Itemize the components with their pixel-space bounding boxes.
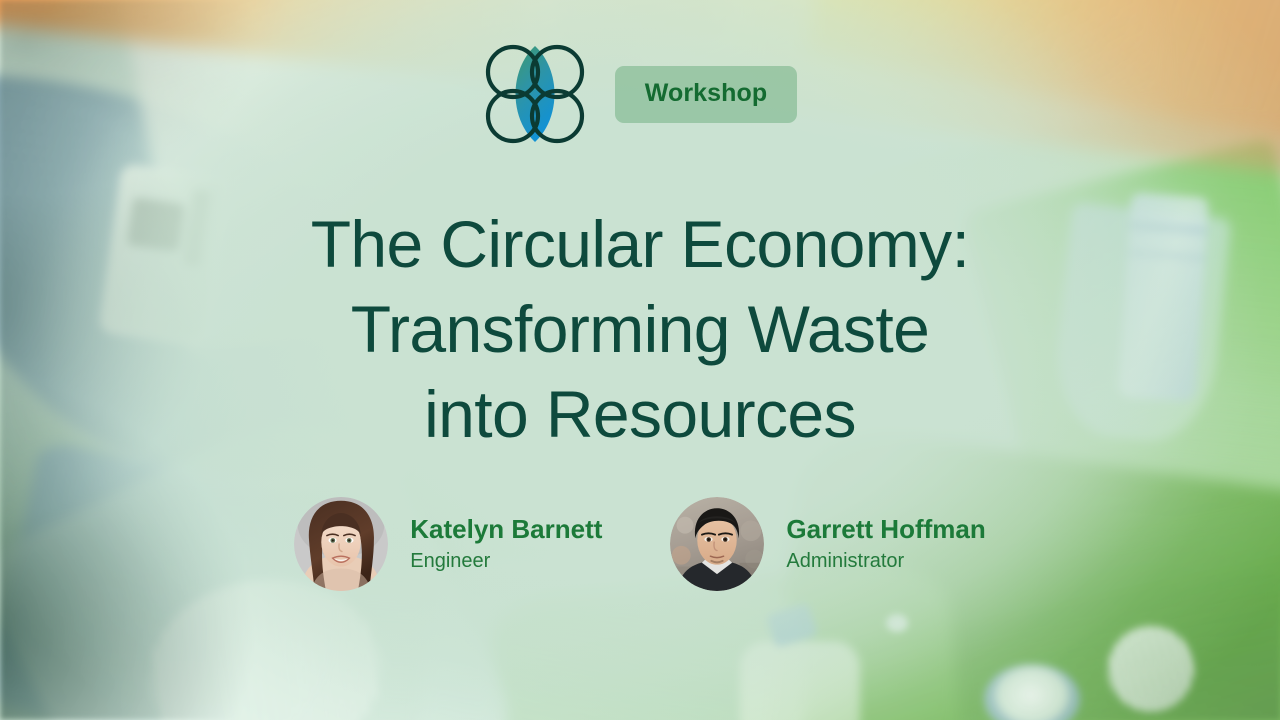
slide-header: Workshop — [483, 44, 798, 144]
speaker-name: Garrett Hoffman — [786, 516, 985, 543]
speaker-role: Administrator — [786, 551, 985, 572]
speaker-list: Katelyn Barnett Engineer — [0, 497, 1280, 591]
workshop-badge: Workshop — [615, 66, 798, 123]
avatar-garrett-hoffman — [670, 497, 764, 591]
avatar-katelyn-barnett — [294, 497, 388, 591]
slide-title: The Circular Economy: Transforming Waste… — [140, 202, 1140, 457]
speaker-text: Katelyn Barnett Engineer — [410, 516, 602, 571]
speaker-name: Katelyn Barnett — [410, 516, 602, 543]
title-line-3: into Resources — [140, 372, 1140, 457]
four-circles-leaf-logo — [483, 44, 587, 144]
speaker-item: Katelyn Barnett Engineer — [294, 497, 602, 591]
title-line-2: Transforming Waste — [140, 287, 1140, 372]
title-line-1: The Circular Economy: — [140, 202, 1140, 287]
speaker-text: Garrett Hoffman Administrator — [786, 516, 985, 571]
slide-content: Workshop The Circular Economy: Transform… — [0, 0, 1280, 720]
title-slide: Workshop The Circular Economy: Transform… — [0, 0, 1280, 720]
speaker-role: Engineer — [410, 551, 602, 572]
speaker-item: Garrett Hoffman Administrator — [670, 497, 985, 591]
